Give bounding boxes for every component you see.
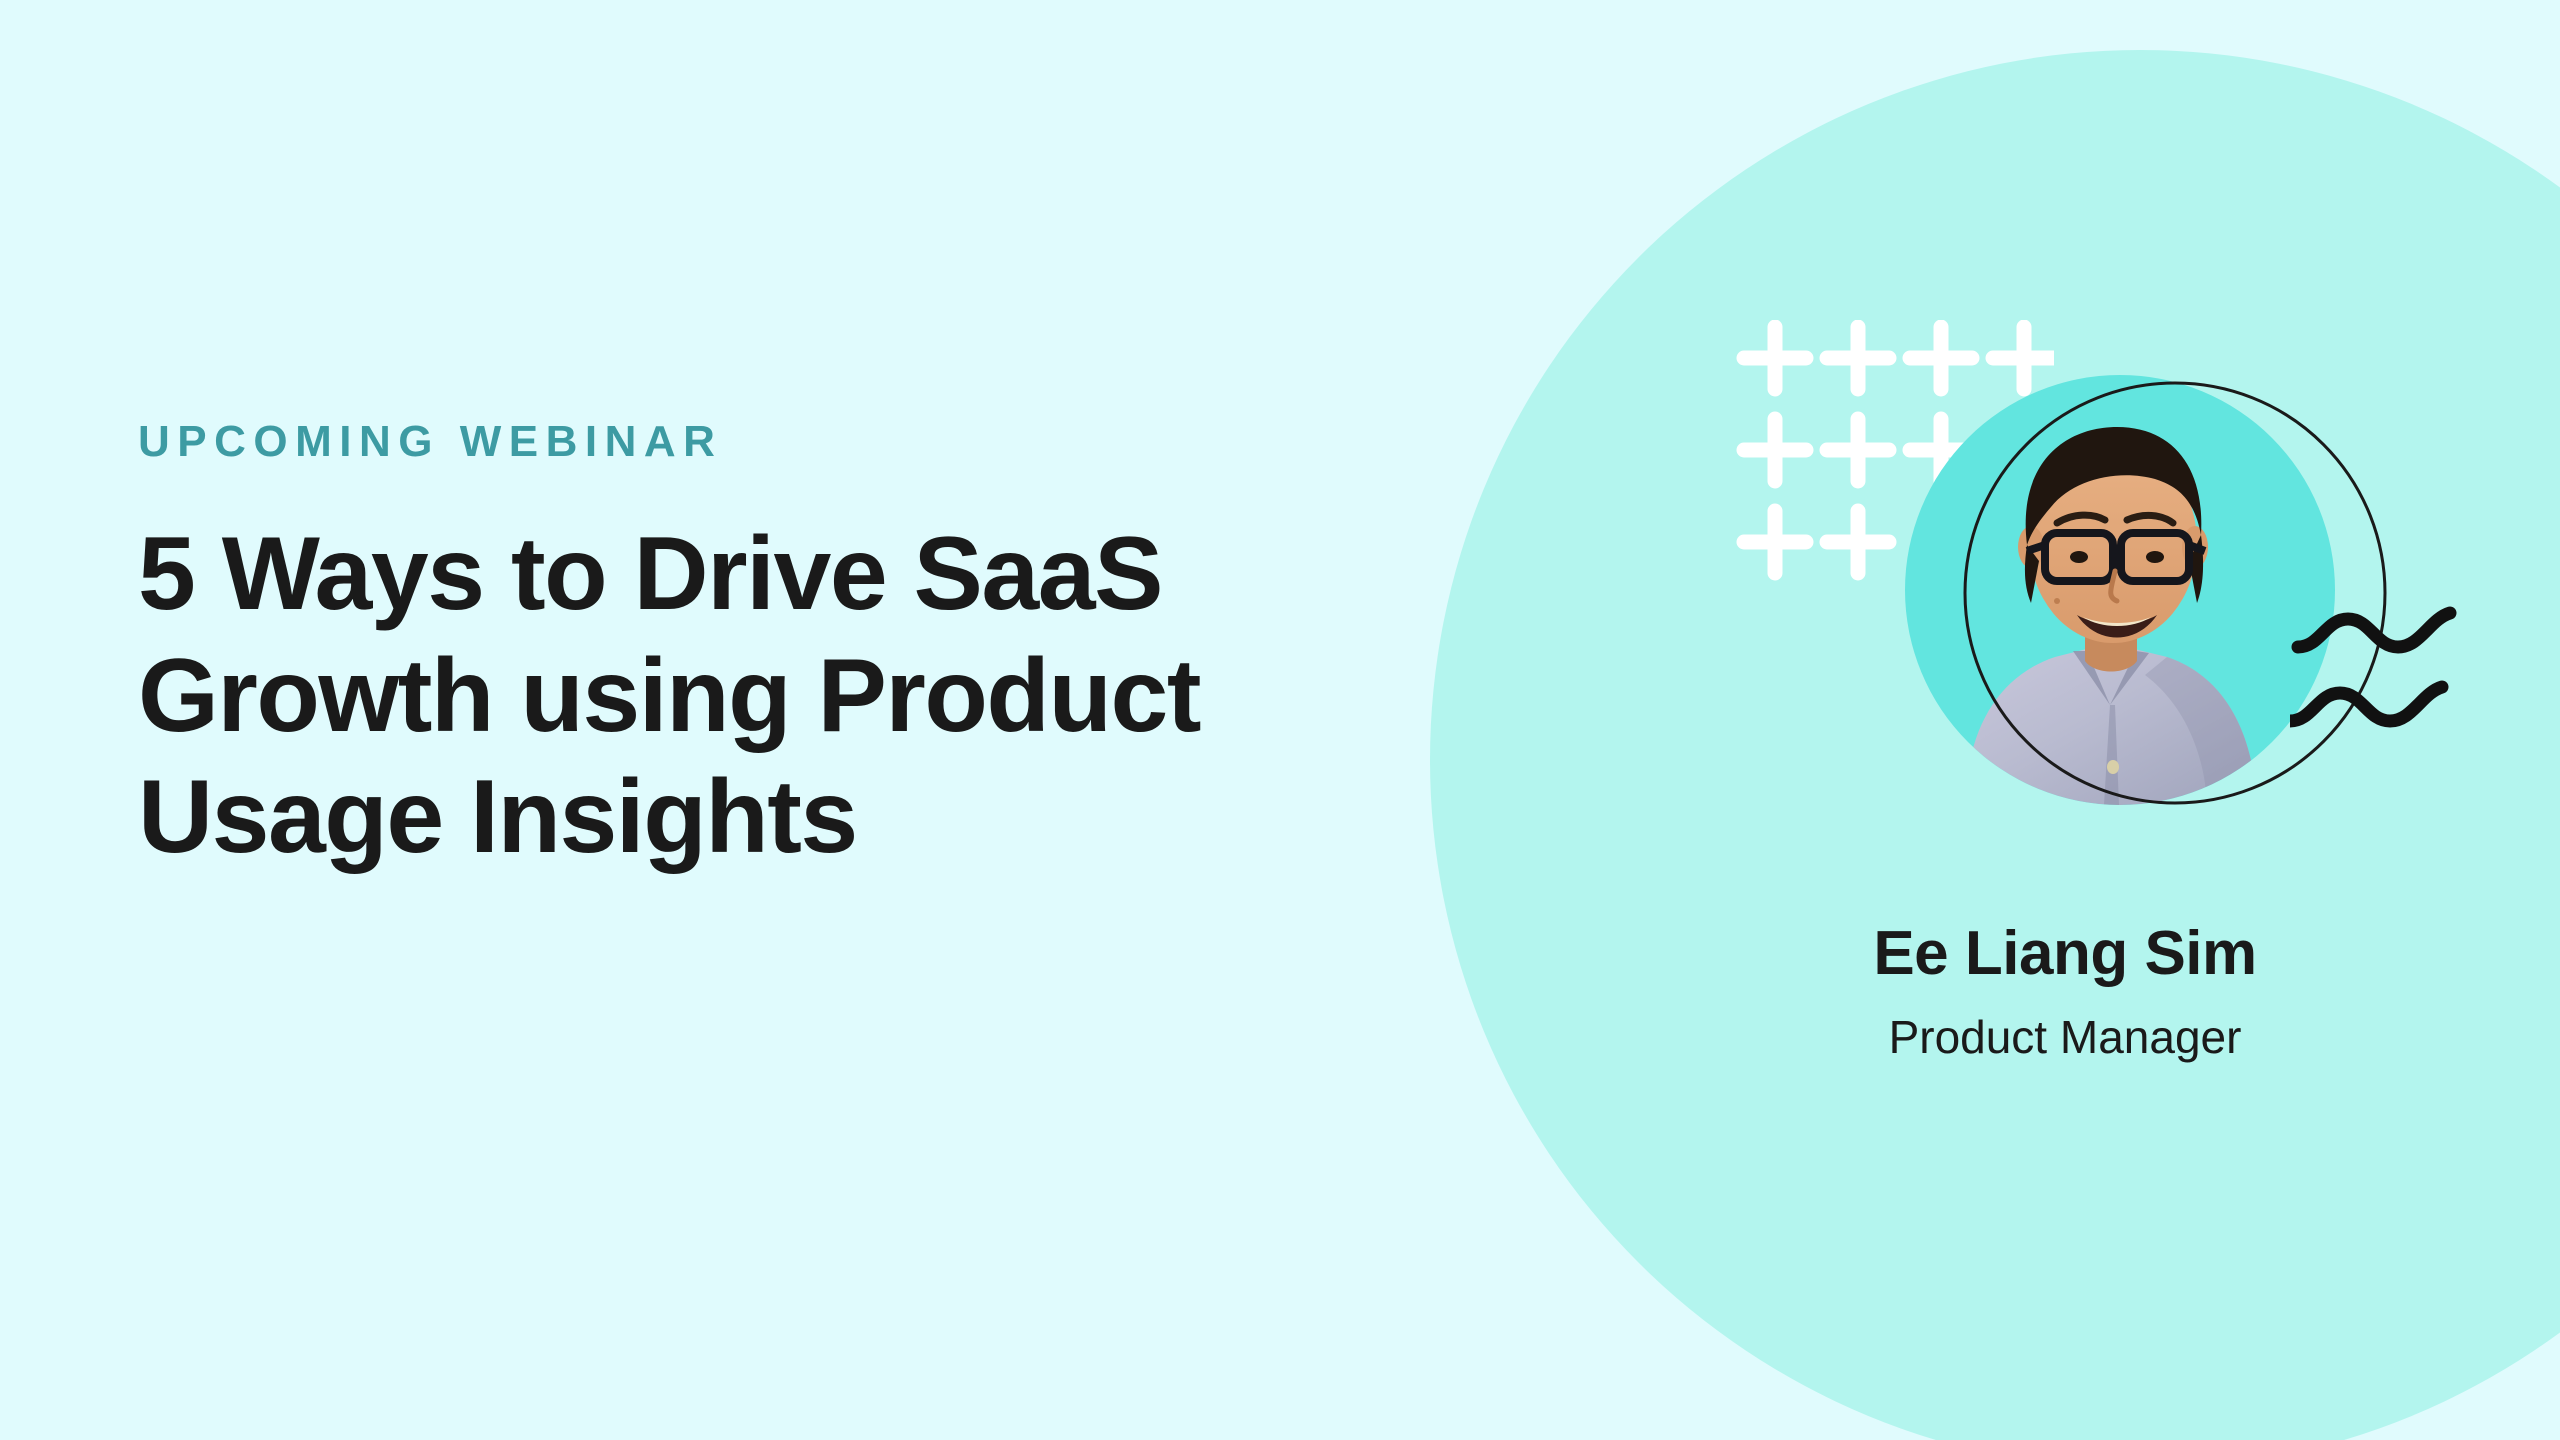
speaker-portrait-group [1820,330,2420,890]
page-title: 5 Ways to Drive SaaS Growth using Produc… [138,514,1458,879]
eyebrow-label: UPCOMING WEBINAR [138,420,1458,464]
avatar [1905,375,2335,805]
promo-text-column: UPCOMING WEBINAR 5 Ways to Drive SaaS Gr… [138,420,1458,879]
speaker-meta: Ee Liang Sim Product Manager [1560,920,2560,1063]
speaker-role: Product Manager [1560,1012,2560,1063]
headline-line-1: 5 Ways to Drive SaaS [138,514,1458,636]
speaker-photo [1905,375,2335,805]
webinar-promo-banner: UPCOMING WEBINAR 5 Ways to Drive SaaS Gr… [0,0,2560,1440]
headline-line-2: Growth using Product [138,636,1458,758]
headline-line-3: Usage Insights [138,757,1458,879]
speaker-name: Ee Liang Sim [1560,920,2560,988]
